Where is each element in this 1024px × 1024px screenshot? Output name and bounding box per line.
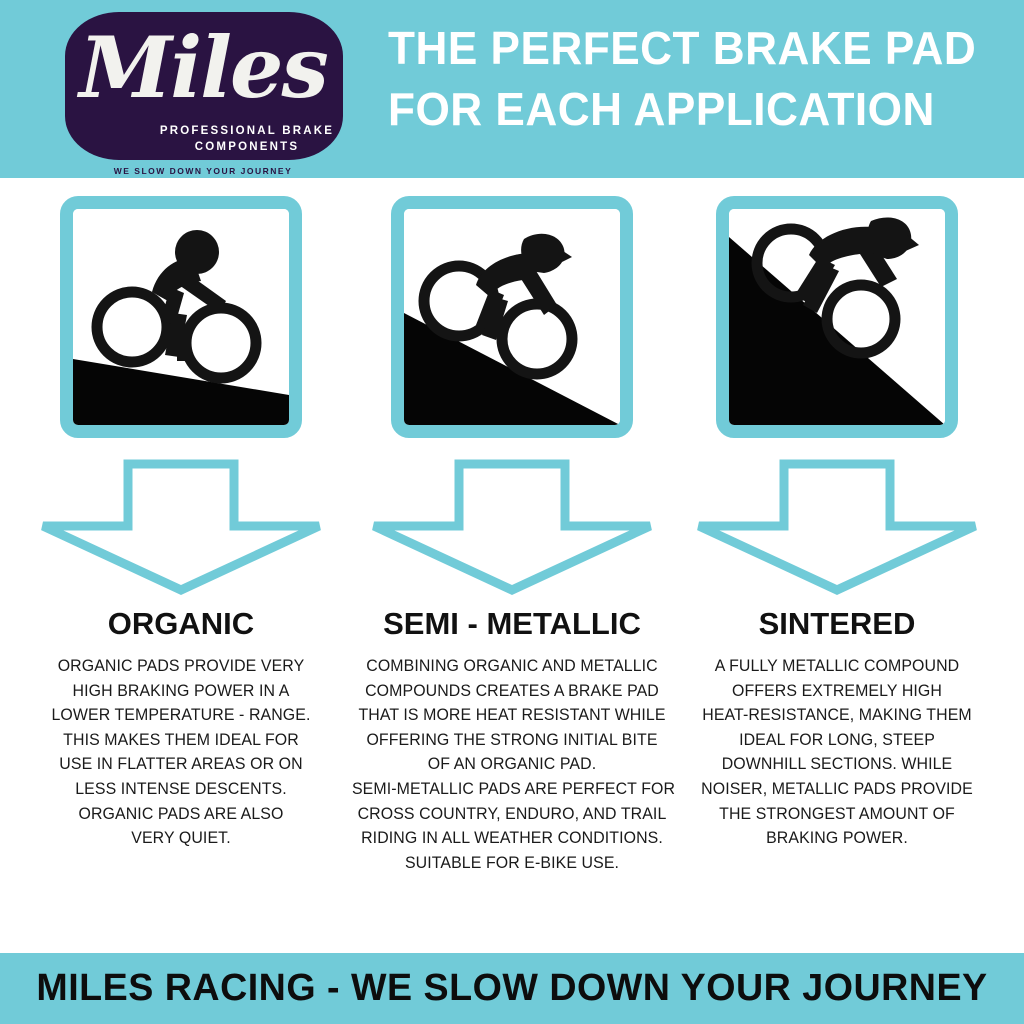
body-line: BRAKING POWER.	[677, 826, 997, 851]
body-line: ORGANIC PADS ARE ALSO	[21, 802, 341, 827]
body-line: HEAT-RESISTANCE, MAKING THEM	[677, 703, 997, 728]
body-line: LOWER TEMPERATURE - RANGE.	[21, 703, 341, 728]
body-line: THAT IS MORE HEAT RESISTANT WHILE	[352, 703, 672, 728]
body-line: CROSS COUNTRY, ENDURO, AND TRAIL	[352, 802, 672, 827]
logo-brand-script: Miles	[57, 14, 349, 124]
body-line: RIDING IN ALL WEATHER CONDITIONS.	[352, 826, 672, 851]
logo-subtitle-line-1: PROFESSIONAL BRAKE	[147, 125, 347, 137]
column-organic: ORGANIC ORGANIC PADS PROVIDE VERY HIGH B…	[16, 196, 346, 851]
card-title-organic: ORGANIC	[16, 606, 346, 642]
icon-tile-sintered	[716, 196, 958, 438]
card-body-semi-metallic: COMBINING ORGANIC AND METALLIC COMPOUNDS…	[352, 654, 672, 875]
body-line: THIS MAKES THEM IDEAL FOR	[21, 728, 341, 753]
cyclist-steep-descent-icon	[729, 209, 945, 425]
card-body-sintered: A FULLY METALLIC COMPOUND OFFERS EXTREME…	[677, 654, 997, 851]
logo-tagline: WE SLOW DOWN YOUR JOURNEY	[103, 166, 303, 176]
infographic-page: Miles PROFESSIONAL BRAKE COMPONENTS WE S…	[0, 0, 1024, 1024]
column-semi-metallic: SEMI - METALLIC COMBINING ORGANIC AND ME…	[347, 196, 677, 875]
cyclist-gentle-slope-icon	[73, 209, 289, 425]
body-line: LESS INTENSE DESCENTS.	[21, 777, 341, 802]
miles-logo: Miles PROFESSIONAL BRAKE COMPONENTS WE S…	[57, 12, 349, 177]
body-line: COMBINING ORGANIC AND METALLIC	[352, 654, 672, 679]
body-line: IDEAL FOR LONG, STEEP	[677, 728, 997, 753]
body-line: HIGH BRAKING POWER IN A	[21, 679, 341, 704]
down-arrow-organic	[31, 450, 331, 600]
chevron-down-icon	[687, 450, 987, 600]
body-line: THE STRONGEST AMOUNT OF	[677, 802, 997, 827]
body-line: NOISER, METALLIC PADS PROVIDE	[677, 777, 997, 802]
footer-band: MILES RACING - WE SLOW DOWN YOUR JOURNEY	[0, 953, 1024, 1024]
page-title: THE PERFECT BRAKE PAD FOR EACH APPLICATI…	[388, 18, 964, 140]
footer-slogan: MILES RACING - WE SLOW DOWN YOUR JOURNEY	[5, 953, 1019, 1024]
body-line: A FULLY METALLIC COMPOUND	[677, 654, 997, 679]
icon-tile-semi-metallic	[391, 196, 633, 438]
body-line: OFFERING THE STRONG INITIAL BITE	[352, 728, 672, 753]
down-arrow-sintered	[687, 450, 987, 600]
card-body-organic: ORGANIC PADS PROVIDE VERY HIGH BRAKING P…	[21, 654, 341, 851]
chevron-down-icon	[362, 450, 662, 600]
icon-tile-organic	[60, 196, 302, 438]
body-line: SEMI-METALLIC PADS ARE PERFECT FOR	[352, 777, 672, 802]
page-title-line-1: THE PERFECT BRAKE PAD	[388, 18, 964, 79]
logo-subtitle-line-2: COMPONENTS	[147, 141, 347, 153]
body-line: ORGANIC PADS PROVIDE VERY	[21, 654, 341, 679]
body-line: VERY QUIET.	[21, 826, 341, 851]
body-line: OFFERS EXTREMELY HIGH	[677, 679, 997, 704]
column-sintered: SINTERED A FULLY METALLIC COMPOUND OFFER…	[672, 196, 1002, 851]
header-band: Miles PROFESSIONAL BRAKE COMPONENTS WE S…	[0, 0, 1024, 178]
body-line: DOWNHILL SECTIONS. WHILE	[677, 752, 997, 777]
card-title-sintered: SINTERED	[672, 606, 1002, 642]
page-title-line-2: FOR EACH APPLICATION	[388, 79, 964, 140]
cyclist-medium-descent-icon	[404, 209, 620, 425]
body-line: COMPOUNDS CREATES A BRAKE PAD	[352, 679, 672, 704]
body-line: SUITABLE FOR E-BIKE USE.	[352, 851, 672, 876]
body-line: OF AN ORGANIC PAD.	[352, 752, 672, 777]
down-arrow-semi-metallic	[362, 450, 662, 600]
body-line: USE IN FLATTER AREAS OR ON	[21, 752, 341, 777]
card-title-semi-metallic: SEMI - METALLIC	[347, 606, 677, 642]
chevron-down-icon	[31, 450, 331, 600]
